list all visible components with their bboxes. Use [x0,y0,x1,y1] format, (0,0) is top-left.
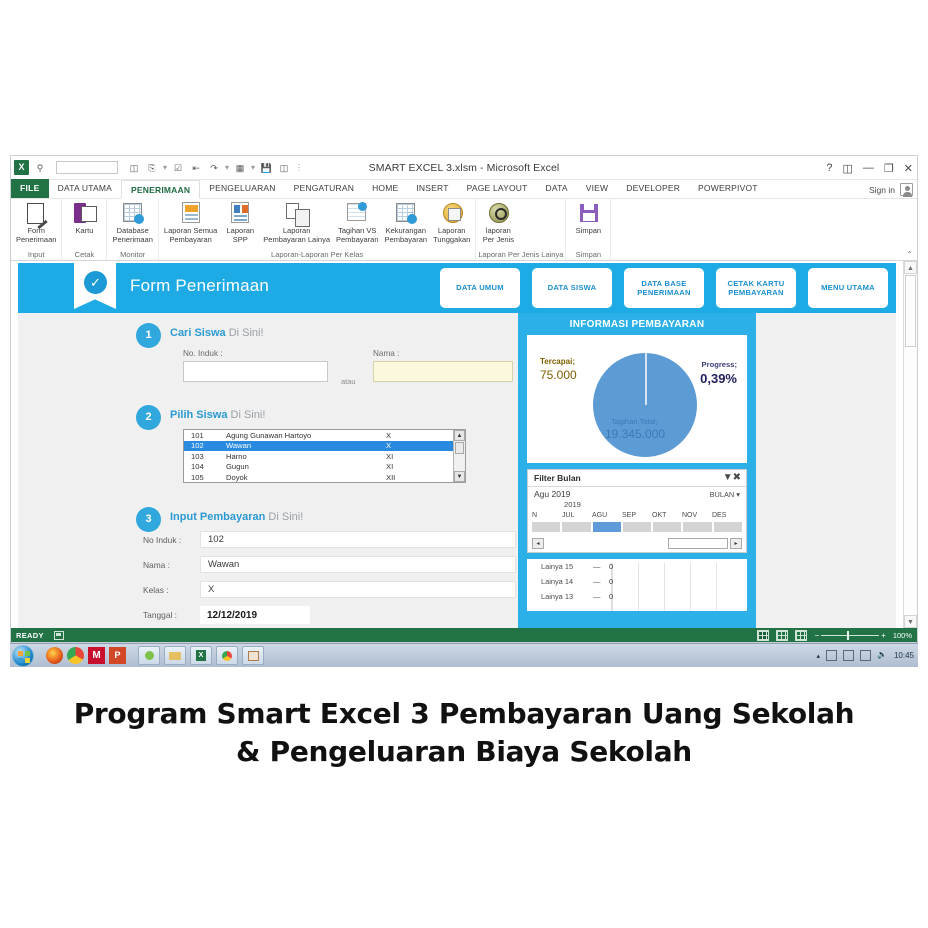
button-caption: Database Penerimaan [112,227,152,244]
nama-value-field[interactable]: Wawan [200,556,516,573]
billing-vs-payment-icon [344,201,370,226]
window-controls[interactable]: ? ◫ — ❐ ✕ [826,156,913,180]
month-bar-nov[interactable] [683,522,711,532]
row-nama: Doyok [226,473,386,482]
month-bar-jul[interactable] [562,522,590,532]
table-row[interactable]: 101 Agung Gunawan Hartoyo X [184,430,465,441]
row-no: 103 [184,452,226,461]
group-label-monitor: Monitor [109,250,155,260]
no-induk-field-label: No Induk : [143,535,181,545]
laporan-tunggakan-button[interactable]: Laporan Tunggakan [430,200,473,244]
month-label: AGU [592,512,622,519]
flag-icon[interactable] [826,650,837,661]
row-kelas: X [386,441,426,450]
check-circle-icon: ✓ [84,271,107,294]
simpan-button[interactable]: Simpan [568,200,608,236]
tab-powerpivot[interactable]: POWERPIVOT [689,179,767,198]
caption-line-1: Program Smart Excel 3 Pembayaran Uang Se… [0,695,928,733]
slicer-scroll-left-icon[interactable]: ◂ [532,538,544,549]
report-by-type-icon [485,201,511,226]
bar-dash: — [593,592,600,601]
minimize-icon[interactable]: — [863,162,874,174]
month-label: DES [712,512,742,519]
step-1-cari-siswa: 1 Cari Siswa Di Sini! No. Induk : atau N… [18,323,388,395]
zoom-slider[interactable]: − + [814,631,885,640]
chrome-icon[interactable] [67,647,84,664]
group-label-input: Input [13,250,59,260]
ribbon-group-input: Form Penerimaan Input [11,199,62,260]
bar-category-label: Lainya 13 [541,592,573,601]
data-base-penerimaan-button[interactable]: DATA BASE PENERIMAAN [624,268,704,308]
laporan-spp-button[interactable]: Laporan SPP [220,200,260,244]
month-bar-n[interactable] [532,522,560,532]
bar-dash: — [593,562,600,571]
slicer-subheader: Agu 2019 BULAN ▾ [528,487,746,502]
bar-row: Lainya 15 — 0 [527,559,747,574]
record-macro-icon[interactable] [54,631,64,640]
battery-icon[interactable] [860,650,871,661]
step-1-title-bold: Cari Siswa [170,327,226,339]
mcafee-icon[interactable]: M [88,647,105,664]
bar-value-label: 0 [609,577,613,586]
ribbon-group-simpan: Simpan Simpan [566,199,611,260]
ribbon: Form Penerimaan Input Kartu Cetak Databa… [11,199,917,261]
listbox-scrollbar[interactable]: ▲ ▼ [453,430,465,482]
shortfall-icon [393,201,419,226]
scrollbar-thumb[interactable] [905,275,916,347]
tagihan-vs-pembayaran-button[interactable]: Tagihan VS Pembayaran [333,200,382,244]
clock[interactable]: 10:45 [894,651,914,660]
ribbon-group-monitor: Database Penerimaan Monitor [107,199,158,260]
group-label-laporan-per-jenis: Laporan Per Jenis Lainya [478,250,563,260]
status-bar: READY − + 100% [11,628,917,642]
laporan-per-jenis-button[interactable]: laporan Per Jenis [478,200,518,244]
tab-file[interactable]: FILE [11,179,49,198]
pie-chart-graphic [593,353,697,457]
zoom-level-label[interactable]: 100% [893,631,912,640]
form-body: 1 Cari Siswa Di Sini! No. Induk : atau N… [18,313,896,628]
form-header-buttons[interactable]: DATA UMUM DATA SISWA DATA BASE PENERIMAA… [440,268,888,308]
windows-start-icon[interactable] [12,645,34,667]
data-siswa-button[interactable]: DATA SISWA [532,268,612,308]
excel-icon[interactable]: X [190,646,212,665]
button-caption: Laporan Pembayaran Lainya [263,227,330,244]
button-caption: Laporan Tunggakan [433,227,470,244]
button-caption: Laporan SPP [227,227,255,244]
pie-value-progress: 0,39% [700,371,737,386]
avatar[interactable] [900,183,913,196]
month-bar-sep[interactable] [623,522,651,532]
scrollbar-thumb[interactable] [455,442,464,454]
table-row[interactable]: 105 Doyok XII [184,472,465,483]
firefox-icon[interactable] [46,647,63,664]
help-icon[interactable]: ? [826,162,832,174]
button-caption: Form Penerimaan [16,227,56,244]
bar-category-label: Lainya 15 [541,562,573,571]
slicer-scroll-track[interactable] [668,538,728,549]
slicer-level-label: BULAN [710,490,735,499]
form-penerimaan-button[interactable]: Form Penerimaan [13,200,59,244]
page-title: Form Penerimaan [130,276,269,296]
slicer-year-label: 2019 [564,500,581,509]
promo-caption: Program Smart Excel 3 Pembayaran Uang Se… [0,695,928,771]
step-1-badge: 1 [136,323,161,348]
ribbon-group-cetak: Kartu Cetak [62,199,107,260]
student-listbox[interactable]: 101 Agung Gunawan Hartoyo X 102 Wawan X … [183,429,466,483]
folder-icon[interactable] [164,646,186,665]
cetak-kartu-pembayaran-button[interactable]: CETAK KARTU PEMBAYARAN [716,268,796,308]
tab-view[interactable]: VIEW [577,179,618,198]
pie-value-tercapai: 75.000 [540,368,577,382]
month-label: OKT [652,512,682,519]
volume-icon[interactable]: 🔈 [877,650,888,661]
row-nama: Agung Gunawan Hartoyo [226,431,386,440]
scroll-up-icon[interactable]: ▲ [904,261,917,274]
powerpoint-icon[interactable]: P [109,647,126,664]
ribbon-tab-strip[interactable]: FILE DATA UTAMA PENERIMAAN PENGELUARAN P… [11,180,917,199]
card-print-icon [71,201,97,226]
slicer-month-labels: N JUL AGU SEP OKT NOV DES [532,512,742,519]
pie-chart: Tercapai; 75.000 Progress; 0,39% Tagihan… [527,335,747,463]
row-kelas: XI [386,452,426,461]
kartu-button[interactable]: Kartu [64,200,104,236]
button-caption: Laporan Semua Pembayaran [164,227,217,244]
tab-penerimaan[interactable]: PENERIMAAN [121,180,200,199]
no-induk-input[interactable] [183,361,328,382]
table-row[interactable]: 102 Wawan X [184,441,465,452]
step-3-input-pembayaran: 3 Input Pembayaran Di Sini! No Induk : 1… [18,507,388,627]
step-1-title: Cari Siswa Di Sini! [170,327,264,339]
step-2-badge: 2 [136,405,161,430]
tanggal-value-field[interactable]: 12/12/2019 [200,606,310,624]
nama-label: Nama : [373,349,513,358]
clear-filter-icon[interactable]: ▼✖ [723,472,741,483]
tab-data[interactable]: DATA [537,179,577,198]
network-tray-icon[interactable] [843,650,854,661]
row-nama: Gugun [226,462,386,471]
button-caption: laporan Per Jenis [483,227,514,244]
pie-value-tagihan-total: 19.345.000 [605,427,665,441]
table-row[interactable]: 103 Harno XI [184,451,465,462]
restore-icon[interactable]: ❐ [884,162,894,175]
system-tray[interactable]: ▴ 🔈 10:45 [816,650,918,661]
ribbon-display-options-icon[interactable]: ◫ [843,162,853,175]
bar-row: Lainya 13 — 0 [527,589,747,604]
scroll-down-icon[interactable]: ▼ [454,471,465,482]
bar-value-label: 0 [609,562,613,571]
month-bar-okt[interactable] [653,522,681,532]
zoom-out-icon[interactable]: − [814,631,819,640]
chevron-down-icon: ▾ [736,490,740,499]
laporan-semua-pembayaran-button[interactable]: Laporan Semua Pembayaran [161,200,220,244]
step-3-title-rest: Di Sini! [268,511,303,523]
kelas-field-label: Kelas : [143,585,169,595]
slicer-footer[interactable]: ◂ ▸ [532,538,742,549]
row-nama: Harno [226,452,386,461]
ribbon-group-laporan-per-jenis: laporan Per Jenis Laporan Per Jenis Lain… [476,199,566,260]
menu-utama-button[interactable]: MENU UTAMA [808,268,888,308]
pie-label-tercapai: Tercapai; [540,357,575,366]
row-nama: Wawan [226,441,386,450]
slicer-scroll-right-icon[interactable]: ▸ [730,538,742,549]
pie-label-progress: Progress; [702,360,737,369]
data-umum-button[interactable]: DATA UMUM [440,268,520,308]
windows-taskbar: M P X ▴ 🔈 10:45 [10,643,918,667]
report-other-icon [284,201,310,226]
tab-insert[interactable]: INSERT [407,179,457,198]
laporan-pembayaran-lainya-button[interactable]: Laporan Pembayaran Lainya [260,200,333,244]
window-title: SMART EXCEL 3.xlsm - Microsoft Excel [11,162,917,174]
step-2-pilih-siswa: 2 Pilih Siswa Di Sini! 101 Agung Gunawan… [18,405,388,497]
tab-pengeluaran[interactable]: PENGELUARAN [200,179,284,198]
sign-in-label[interactable]: Sign in [869,185,895,195]
close-icon[interactable]: ✕ [904,162,913,175]
form-document-icon [23,201,49,226]
row-no: 102 [184,441,226,450]
row-no: 101 [184,431,226,440]
form-left-column: 1 Cari Siswa Di Sini! No. Induk : atau N… [18,313,388,627]
no-induk-label: No. Induk : [183,349,328,358]
row-kelas: X [386,431,426,440]
no-induk-field-group: No. Induk : [183,349,328,382]
network-icon[interactable] [138,646,160,665]
tab-developer[interactable]: DEVELOPER [617,179,689,198]
taskbar-open-windows[interactable]: X [138,646,264,665]
month-label: NOV [682,512,712,519]
save-floppy-icon [575,201,601,226]
app-window-icon[interactable] [242,646,264,665]
zoom-in-icon[interactable]: + [881,631,886,640]
slicer-level-dropdown[interactable]: BULAN ▾ [710,490,740,499]
title-bar: X ⚲ ◫ ⎘ ▾ ☑ ⇤ ↷ ▾ ▦ ▾ 💾 ◫ ⋮ SMART EXCEL … [11,156,917,180]
filter-bulan-slicer[interactable]: Filter Bulan ▼✖ Agu 2019 BULAN ▾ 2019 N … [527,469,747,553]
row-kelas: XII [386,473,426,482]
nama-input[interactable] [373,361,513,382]
tanggal-field-label: Tanggal : [143,610,177,620]
step-1-title-rest: Di Sini! [229,327,264,339]
normal-view-icon[interactable] [757,630,769,641]
month-bar-des[interactable] [714,522,742,532]
group-label-simpan: Simpan [568,250,608,260]
sign-in-area[interactable]: Sign in [869,183,913,196]
lainya-bar-chart: Lainya 15 — 0 Lainya 14 — 0 Lainya 13 — … [527,559,747,611]
month-label: SEP [622,512,652,519]
tray-expand-icon[interactable]: ▴ [816,652,820,660]
worksheet-area: ✓ Form Penerimaan DATA UMUM DATA SISWA D… [11,261,917,628]
no-induk-value-field[interactable]: 102 [200,531,516,548]
nama-field-group: Nama : [373,349,513,382]
slicer-current-value: Agu 2019 [534,489,570,499]
caption-line-2: & Pengeluaran Biaya Sekolah [0,733,928,771]
month-label: N [532,512,562,519]
report-spp-icon [227,201,253,226]
step-3-title-bold: Input Pembayaran [170,511,265,523]
tab-pengaturan[interactable]: PENGATURAN [285,179,363,198]
button-caption: Simpan [576,227,601,236]
kekurangan-pembayaran-button[interactable]: Kekurangan Pembayaran [382,200,431,244]
row-kelas: XI [386,462,426,471]
step-2-title-bold: Pilih Siswa [170,409,227,421]
kelas-value-field[interactable]: X [200,581,516,598]
row-no: 104 [184,462,226,471]
slicer-title: Filter Bulan [534,473,581,483]
step-2-title: Pilih Siswa Di Sini! [170,409,265,421]
excel-window: X ⚲ ◫ ⎘ ▾ ☑ ⇤ ↷ ▾ ▦ ▾ 💾 ◫ ⋮ SMART EXCEL … [10,155,918,643]
status-bar-right[interactable]: − + 100% [757,630,917,641]
page-layout-view-icon[interactable] [776,630,788,641]
group-label-laporan-per-kelas: Laporan-Laporan Per Kelas [161,250,473,260]
button-caption: Kartu [75,227,93,236]
taskbar-pinned-icons[interactable]: M P [46,647,126,664]
report-all-icon [178,201,204,226]
scroll-down-icon[interactable]: ▼ [904,615,917,628]
informasi-pembayaran-panel: INFORMASI PEMBAYARAN Tercapai; 75.000 Pr… [518,313,756,628]
row-no: 105 [184,473,226,482]
collapse-ribbon-icon[interactable]: ⌃ [906,250,913,259]
month-label: JUL [562,512,592,519]
status-ready-label: READY [11,631,44,640]
pie-slice-tercapai [645,353,647,405]
form-header: ✓ Form Penerimaan DATA UMUM DATA SISWA D… [18,263,896,313]
chrome-window-icon[interactable] [216,646,238,665]
step-3-badge: 3 [136,507,161,532]
page-break-view-icon[interactable] [795,630,807,641]
nama-field-label: Nama : [143,560,170,570]
atau-label: atau [341,377,356,386]
tab-page-layout[interactable]: PAGE LAYOUT [458,179,537,198]
bar-dash: — [593,577,600,586]
button-caption: Tagihan VS Pembayaran [336,227,379,244]
button-caption: Kekurangan Pembayaran [385,227,428,244]
step-3-title: Input Pembayaran Di Sini! [170,511,303,523]
zoom-track[interactable] [821,635,879,636]
sheet-vertical-scrollbar[interactable]: ▲ ▼ [903,261,917,628]
bar-value-label: 0 [609,592,613,601]
panel-title: INFORMASI PEMBAYARAN [518,313,756,335]
slicer-header: Filter Bulan ▼✖ [528,470,746,487]
table-row[interactable]: 104 Gugun XI [184,462,465,473]
database-penerimaan-button[interactable]: Database Penerimaan [109,200,155,244]
group-label-cetak: Cetak [64,250,104,260]
database-grid-icon [120,201,146,226]
month-bar-agu-selected[interactable] [593,522,621,532]
bar-row: Lainya 14 — 0 [527,574,747,589]
slicer-month-bars[interactable] [532,522,742,532]
bar-category-label: Lainya 14 [541,577,573,586]
ribbon-group-laporan-per-kelas: Laporan Semua Pembayaran Laporan SPP Lap… [159,199,476,260]
scroll-up-icon[interactable]: ▲ [454,430,465,441]
pie-label-tagihan-total: Tagihan Total; [611,417,658,426]
tab-data-utama[interactable]: DATA UTAMA [49,179,121,198]
step-2-title-rest: Di Sini! [231,409,266,421]
arrears-report-icon [439,201,465,226]
tab-home[interactable]: HOME [363,179,407,198]
